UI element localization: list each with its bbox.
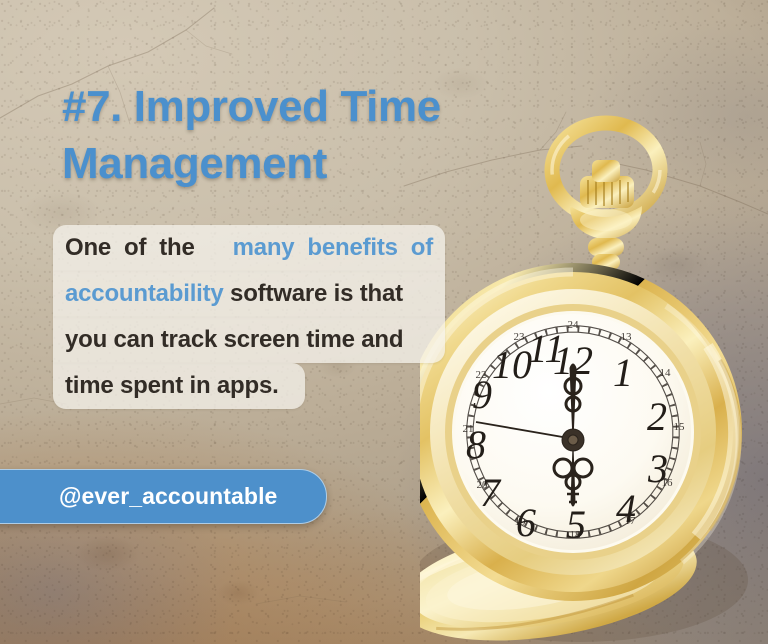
svg-text:8: 8 (466, 422, 486, 467)
body-span-accent: accountability (65, 280, 224, 308)
svg-text:5: 5 (566, 502, 586, 547)
svg-text:4: 4 (616, 486, 636, 531)
body-line-1: One of the many benefits of (53, 225, 445, 271)
svg-text:11: 11 (527, 326, 564, 371)
body-line-text-2: accountability software is that (53, 280, 445, 308)
body-span: time spent in apps. (65, 372, 279, 400)
body-line-3: you can track screen time and (53, 317, 445, 363)
svg-text:2: 2 (647, 394, 667, 439)
svg-text:10: 10 (492, 342, 532, 387)
body-line-text-3: you can track screen time and (53, 326, 445, 354)
svg-text:9: 9 (472, 372, 492, 417)
body-line-text-1: One of the many benefits of (53, 234, 445, 262)
body-span-accent: many benefits of (233, 234, 433, 262)
body-span: One of the (65, 234, 208, 262)
svg-text:3: 3 (647, 446, 668, 491)
page-title: #7. Improved Time Management (62, 78, 582, 192)
body-span: software is that (224, 280, 403, 308)
body-line-4: time spent in apps. (53, 363, 445, 409)
svg-text:7: 7 (480, 470, 502, 515)
svg-text:6: 6 (516, 500, 536, 545)
body-line-2: accountability software is that (53, 271, 445, 317)
handle-badge[interactable]: @ever_accountable (0, 469, 327, 524)
svg-text:13: 13 (621, 331, 633, 343)
svg-text:15: 15 (674, 421, 686, 433)
handle-badge-label: @ever_accountable (59, 483, 277, 510)
svg-text:14: 14 (660, 367, 672, 379)
watch-dial: 24 13 14 15 16 17 18 19 20 21 22 23 12 1 (455, 314, 691, 550)
svg-text:1: 1 (613, 350, 633, 395)
svg-text:24: 24 (568, 319, 580, 331)
body-line-text-4: time spent in apps. (53, 372, 445, 400)
body-text-block: One of the many benefits of accountabili… (53, 225, 445, 409)
body-span: you can track screen time and (65, 326, 403, 354)
social-post-canvas: 24 13 14 15 16 17 18 19 20 21 22 23 12 1 (0, 0, 768, 644)
